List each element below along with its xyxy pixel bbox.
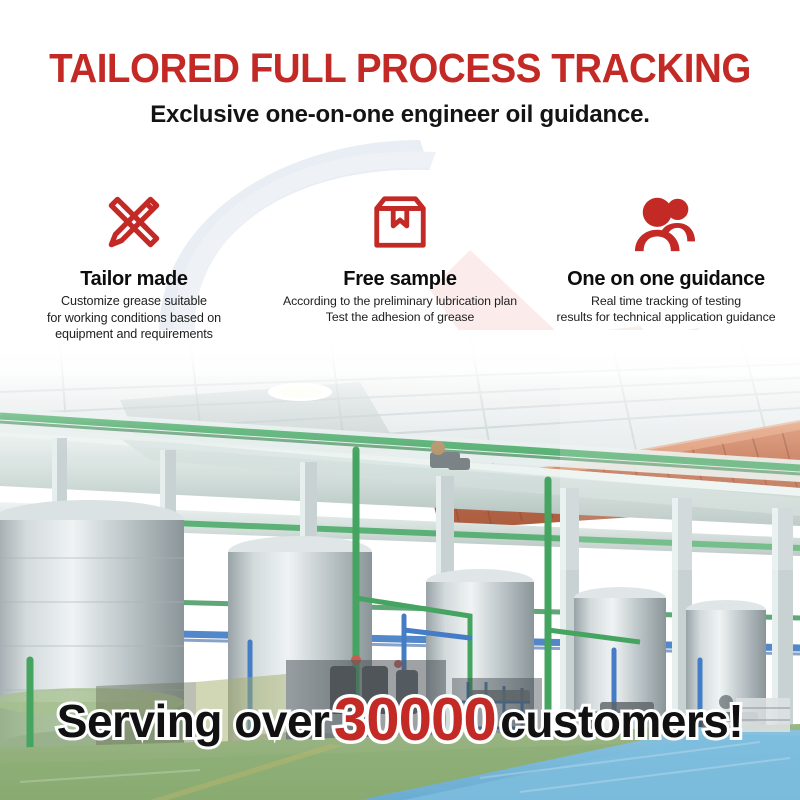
feature-item-one-on-one-guidance: One on one guidance Real time tracking o… (532, 186, 800, 343)
feature-item-tailor-made: Tailor made Customize grease suitable fo… (0, 186, 268, 343)
feature-desc-line: equipment and requirements (4, 326, 264, 343)
two-people-glyph (634, 192, 698, 252)
package-box-icon (272, 186, 528, 258)
feature-desc-line: According to the preliminary lubrication… (272, 293, 528, 309)
feature-description: Real time tracking of testing results fo… (536, 293, 796, 326)
infographic-page: TAILORED FULL PROCESS TRACKING Exclusive… (0, 0, 800, 800)
two-people-icon (536, 186, 796, 258)
feature-desc-line: for working conditions based on (4, 310, 264, 327)
feature-desc-line: Test the adhesion of grease (272, 309, 528, 325)
ruler-pencil-glyph (101, 189, 167, 255)
feature-title: Free sample (272, 268, 528, 290)
page-subtitle: Exclusive one-on-one engineer oil guidan… (0, 101, 800, 129)
feature-item-free-sample: Free sample According to the preliminary… (268, 186, 532, 343)
bottom-banner: Serving over 30000 customers! (0, 688, 800, 751)
feature-description: According to the preliminary lubrication… (272, 293, 528, 325)
feature-title: One on one guidance (536, 268, 796, 290)
banner-prefix: Serving over (57, 697, 330, 745)
feature-description: Customize grease suitable for working co… (4, 293, 264, 343)
ruler-pencil-icon (4, 186, 264, 258)
banner-customer-count: 30000 (334, 688, 496, 751)
feature-desc-line: Customize grease suitable (4, 293, 264, 310)
feature-list: Tailor made Customize grease suitable fo… (0, 186, 800, 343)
banner-suffix: customers! (500, 697, 743, 745)
feature-desc-line: Real time tracking of testing (536, 293, 796, 309)
feature-title: Tailor made (4, 268, 264, 290)
page-title: TAILORED FULL PROCESS TRACKING (24, 48, 776, 89)
package-box-glyph (369, 191, 431, 253)
header: TAILORED FULL PROCESS TRACKING Exclusive… (0, 0, 800, 129)
feature-desc-line: results for technical application guidan… (536, 309, 796, 325)
